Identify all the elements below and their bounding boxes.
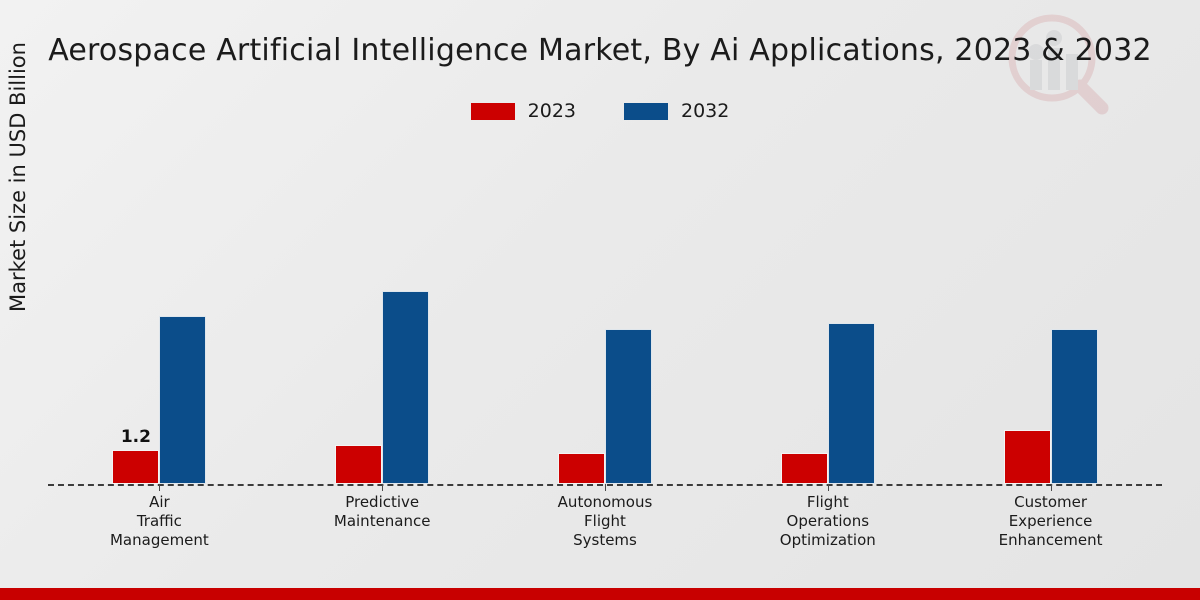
legend-item-2023[interactable]: 2023 <box>471 100 576 122</box>
bar-2023-1[interactable] <box>335 445 382 484</box>
bar-group-bars-2 <box>494 150 717 484</box>
x-axis-label-1: Predictive Maintenance <box>334 493 431 531</box>
bar-group-bars-0: 1.2 <box>48 150 271 484</box>
x-axis-label-2-line-2: Systems <box>558 531 653 550</box>
bar-2032-4[interactable] <box>1051 329 1098 484</box>
bar-group-3: Flight Operations Optimization <box>716 150 939 484</box>
chart-page: Aerospace Artificial Intelligence Market… <box>0 0 1200 600</box>
bar-2032-0[interactable] <box>159 316 206 484</box>
x-axis-label-1-line-0: Predictive <box>334 493 431 512</box>
x-axis-label-0-line-2: Management <box>110 531 209 550</box>
x-tick-2 <box>605 484 606 491</box>
legend-swatch-2023 <box>471 103 515 120</box>
bar-2023-2[interactable] <box>558 453 605 484</box>
legend-label-2032: 2032 <box>681 100 729 122</box>
x-tick-0 <box>159 484 160 491</box>
x-axis-label-4-line-1: Experience <box>999 512 1103 531</box>
x-axis-label-3-line-0: Flight <box>780 493 876 512</box>
bar-2023-4[interactable] <box>1004 430 1051 484</box>
x-axis-label-3: Flight Operations Optimization <box>780 493 876 550</box>
bottom-accent-bar <box>0 588 1200 600</box>
legend-item-2032[interactable]: 2032 <box>624 100 729 122</box>
x-axis-label-0-line-1: Traffic <box>110 512 209 531</box>
x-axis-label-0: Air Traffic Management <box>110 493 209 550</box>
x-tick-1 <box>382 484 383 491</box>
x-axis-label-3-line-2: Optimization <box>780 531 876 550</box>
chart-title: Aerospace Artificial Intelligence Market… <box>0 33 1200 68</box>
x-tick-3 <box>828 484 829 491</box>
legend-label-2023: 2023 <box>528 100 576 122</box>
bar-group-bars-4 <box>939 150 1162 484</box>
bar-group-1: Predictive Maintenance <box>271 150 494 484</box>
legend-swatch-2032 <box>624 103 668 120</box>
x-axis-label-4-line-0: Customer <box>999 493 1103 512</box>
plot-area: 1.2 Air Traffic Management Predictive Ma… <box>48 150 1162 484</box>
x-axis-label-3-line-1: Operations <box>780 512 876 531</box>
x-axis-label-2-line-1: Flight <box>558 512 653 531</box>
x-axis-label-0-line-0: Air <box>110 493 209 512</box>
x-axis-label-4: Customer Experience Enhancement <box>999 493 1103 550</box>
bar-2023-3[interactable] <box>781 453 828 484</box>
bar-2032-2[interactable] <box>605 329 652 484</box>
bar-2023-0[interactable]: 1.2 <box>112 450 159 484</box>
x-axis-label-2: Autonomous Flight Systems <box>558 493 653 550</box>
bar-group-2: Autonomous Flight Systems <box>494 150 717 484</box>
x-axis-label-4-line-2: Enhancement <box>999 531 1103 550</box>
chart-legend: 2023 2032 <box>0 100 1200 122</box>
x-axis-label-2-line-0: Autonomous <box>558 493 653 512</box>
y-axis-title: Market Size in USD Billion <box>6 7 30 347</box>
x-tick-4 <box>1051 484 1052 491</box>
bar-group-bars-1 <box>271 150 494 484</box>
x-axis-label-1-line-1: Maintenance <box>334 512 431 531</box>
bar-value-label-0: 1.2 <box>121 427 151 447</box>
bar-2032-3[interactable] <box>828 323 875 484</box>
bar-group-4: Customer Experience Enhancement <box>939 150 1162 484</box>
bar-2032-1[interactable] <box>382 291 429 484</box>
bar-group-bars-3 <box>716 150 939 484</box>
bar-group-0: 1.2 Air Traffic Management <box>48 150 271 484</box>
